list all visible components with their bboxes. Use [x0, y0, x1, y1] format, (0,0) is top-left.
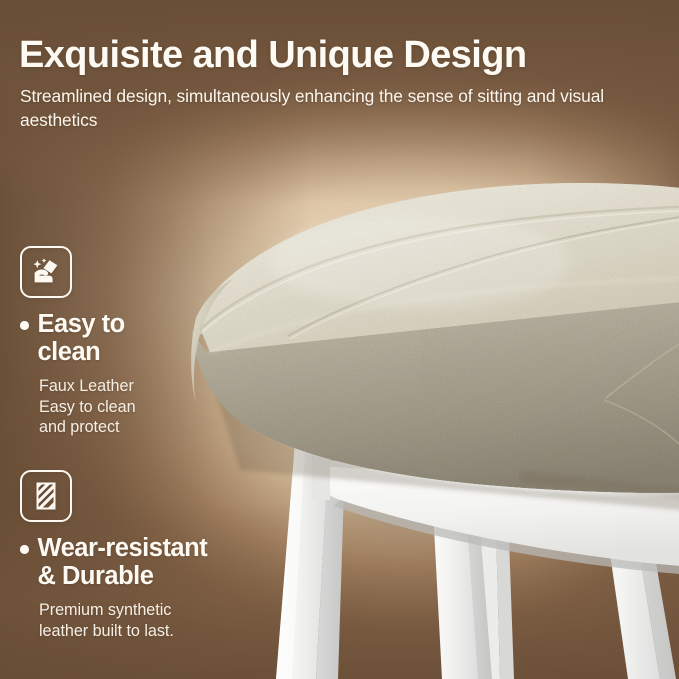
wipe-clean-sparkle-icon [20, 246, 72, 298]
product-feature-infographic: Exquisite and Unique Design Streamlined … [0, 0, 679, 679]
bullet-icon [20, 545, 29, 554]
page-title: Exquisite and Unique Design [19, 33, 639, 77]
feature-title-text: Easy toclean [38, 310, 125, 366]
header: Exquisite and Unique Design Streamlined … [19, 33, 639, 132]
feature-block-easy-to-clean: Easy toclean Faux Leather Easy to clean … [20, 246, 255, 438]
feature-title: Wear-resistant& Durable [20, 534, 255, 590]
diagonal-stripe-swatch-icon [20, 470, 72, 522]
feature-description: Premium synthetic leather built to last. [39, 600, 255, 641]
feature-title-text: Wear-resistant& Durable [38, 534, 208, 590]
feature-block-wear-resistant: Wear-resistant& Durable Premium syntheti… [20, 470, 255, 641]
feature-description: Faux Leather Easy to clean and protect [39, 376, 255, 438]
bullet-icon [20, 321, 29, 330]
page-subtitle: Streamlined design, simultaneously enhan… [20, 85, 605, 132]
feature-title: Easy toclean [20, 310, 255, 366]
